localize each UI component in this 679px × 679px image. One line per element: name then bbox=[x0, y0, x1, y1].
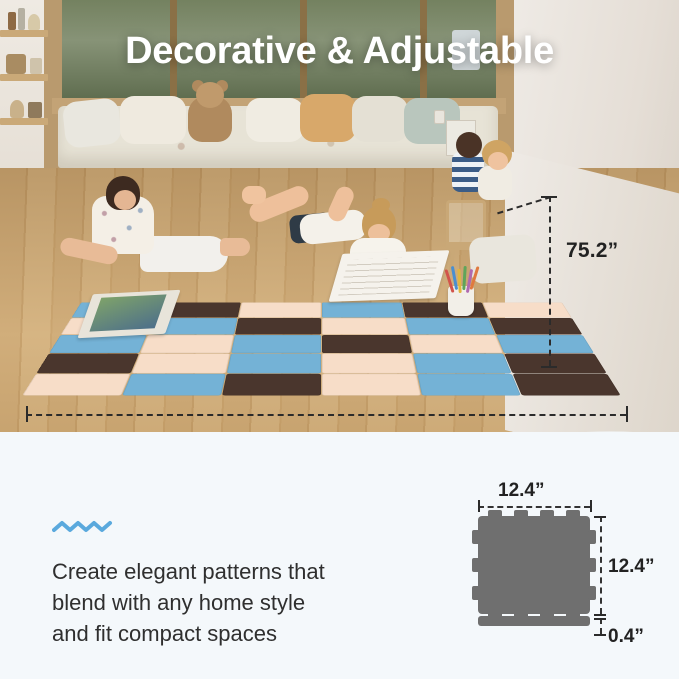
mat-tile bbox=[504, 354, 606, 374]
squiggle-icon bbox=[52, 519, 114, 535]
depth-dimension-line bbox=[549, 196, 551, 366]
mat-tile bbox=[322, 302, 404, 317]
benefit-copy-line-1: Create elegant patterns that bbox=[52, 556, 452, 587]
tile-thickness-edge bbox=[478, 616, 590, 626]
tile-interlock-notch bbox=[472, 558, 480, 572]
tile-interlock-notch bbox=[472, 530, 480, 544]
child-left-face bbox=[114, 190, 136, 210]
shelf-object bbox=[28, 14, 40, 30]
tile-interlock-notch bbox=[588, 530, 596, 544]
tile-height-tick-bottom bbox=[594, 614, 606, 616]
tile-thickness-dimension-line bbox=[600, 618, 602, 634]
pillow bbox=[352, 96, 408, 142]
depth-dimension-label: 75.2” bbox=[566, 239, 618, 263]
tile-height-dimension-line bbox=[600, 516, 602, 614]
mat-tile bbox=[496, 335, 593, 353]
mat-tile bbox=[417, 374, 520, 395]
pillow bbox=[62, 97, 123, 149]
width-dimension-line bbox=[26, 414, 626, 416]
tile-interlock-notch bbox=[514, 510, 528, 518]
mat-tile bbox=[322, 374, 420, 395]
tile-interlock-notch bbox=[588, 558, 596, 572]
shelf-object bbox=[18, 8, 25, 30]
tile-interlock-notch bbox=[540, 510, 554, 518]
wall-outlet bbox=[434, 110, 445, 124]
mat-tile bbox=[413, 354, 511, 374]
mat-tile bbox=[122, 374, 225, 395]
page-title: Decorative & Adjustable bbox=[0, 30, 679, 73]
mat-tile bbox=[132, 354, 230, 374]
shelf-object bbox=[8, 12, 16, 30]
mat-tile bbox=[23, 374, 130, 395]
child-back-hair bbox=[456, 132, 482, 158]
toddler-face bbox=[488, 152, 508, 170]
tile-height-tick-top bbox=[594, 516, 606, 518]
tile-interlock-notch bbox=[566, 510, 580, 518]
mat-tile bbox=[49, 335, 146, 353]
benefit-copy: Create elegant patterns that blend with … bbox=[52, 556, 452, 649]
pencil bbox=[457, 269, 461, 293]
tile-width-tick-right bbox=[590, 500, 592, 512]
tile-thickness-tick-top bbox=[594, 618, 606, 620]
benefit-copy-line-2: blend with any home style bbox=[52, 587, 452, 618]
tile-thickness-tick-bottom bbox=[594, 634, 606, 636]
mat-tile bbox=[235, 318, 321, 334]
mat-tile bbox=[36, 354, 138, 374]
mat-tile bbox=[409, 335, 502, 353]
tile-interlock-notch bbox=[488, 510, 502, 518]
benefit-copy-line-3: and fit compact spaces bbox=[52, 618, 452, 649]
mat-tile bbox=[222, 374, 320, 395]
tile-height-label: 12.4” bbox=[608, 556, 654, 578]
pillow bbox=[246, 98, 304, 142]
child-middle-foot bbox=[242, 186, 266, 204]
child-left-foot bbox=[220, 238, 250, 256]
shelf-object bbox=[10, 100, 24, 118]
tile-interlock-notch bbox=[588, 586, 596, 600]
pillow bbox=[300, 94, 356, 142]
floor-pillow bbox=[468, 234, 537, 284]
tile-width-label: 12.4” bbox=[498, 480, 544, 502]
wall-shelf bbox=[0, 118, 48, 125]
tile-width-dimension-line bbox=[478, 506, 590, 508]
tile-face bbox=[478, 516, 590, 614]
tile-width-tick-left bbox=[478, 500, 480, 512]
mat-tile bbox=[322, 318, 408, 334]
pillow bbox=[120, 96, 186, 144]
mat-tile bbox=[406, 318, 495, 334]
single-tile-diagram bbox=[478, 516, 598, 636]
mat-tile bbox=[402, 302, 487, 317]
colored-pencils bbox=[444, 266, 478, 290]
toddler-body bbox=[478, 166, 512, 200]
tile-interlock-notch bbox=[472, 586, 480, 600]
mat-tile bbox=[231, 335, 321, 353]
coloring-book-page bbox=[338, 256, 439, 295]
mat-tile bbox=[513, 374, 620, 395]
teddy-bear-head bbox=[196, 82, 224, 108]
mat-tile bbox=[322, 335, 412, 353]
product-infographic: Decorative & Adjustable 75.2” 75.2” Crea… bbox=[0, 0, 679, 679]
wall-shelf bbox=[0, 74, 48, 81]
mat-tile bbox=[322, 354, 416, 374]
mat-tile bbox=[140, 335, 233, 353]
open-book-left-illustration bbox=[89, 294, 166, 331]
mat-tile bbox=[483, 302, 572, 317]
shelf-object bbox=[28, 102, 42, 118]
mat-tile bbox=[227, 354, 321, 374]
mat-tile bbox=[489, 318, 582, 334]
tile-thickness-label: 0.4” bbox=[608, 626, 644, 648]
mat-tile bbox=[239, 302, 321, 317]
depth-dimension-tick-bottom bbox=[541, 366, 557, 368]
